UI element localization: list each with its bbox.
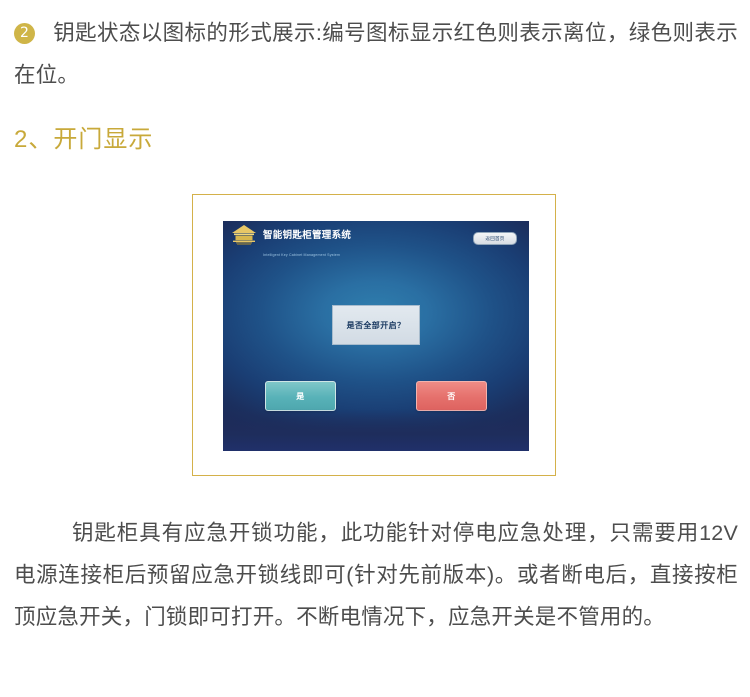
yes-button[interactable]: 是 bbox=[265, 381, 336, 411]
body-paragraph: 钥匙柜具有应急开锁功能，此功能针对停电应急处理，只需要用12V电源连接柜后预留应… bbox=[14, 512, 738, 638]
home-button[interactable]: 返回首页 bbox=[473, 232, 517, 245]
intro-paragraph-block: 2钥匙状态以图标的形式展示:编号图标显示红色则表示离位，绿色则表示在位。 bbox=[14, 12, 738, 96]
body-paragraph-block: 钥匙柜具有应急开锁功能，此功能针对停电应急处理，只需要用12V电源连接柜后预留应… bbox=[14, 512, 738, 638]
brand-title: 智能钥匙柜管理系统 Intelligent Key Cabinet Manage… bbox=[263, 225, 383, 261]
intro-paragraph-text: 钥匙状态以图标的形式展示:编号图标显示红色则表示离位，绿色则表示在位。 bbox=[14, 21, 738, 87]
section-heading: 2、开门显示 bbox=[14, 120, 153, 160]
app-header: 智能钥匙柜管理系统 Intelligent Key Cabinet Manage… bbox=[223, 221, 529, 251]
app-screenshot-panel: 智能钥匙柜管理系统 Intelligent Key Cabinet Manage… bbox=[223, 221, 529, 451]
no-button[interactable]: 否 bbox=[416, 381, 487, 411]
confirm-dialog: 是否全部开启？ bbox=[332, 305, 420, 345]
brand-title-en: Intelligent Key Cabinet Management Syste… bbox=[263, 253, 340, 257]
confirm-dialog-text: 是否全部开启？ bbox=[347, 320, 406, 331]
list-number-badge: 2 bbox=[14, 23, 35, 44]
figure-frame: 智能钥匙柜管理系统 Intelligent Key Cabinet Manage… bbox=[192, 194, 556, 476]
intro-paragraph: 2钥匙状态以图标的形式展示:编号图标显示红色则表示离位，绿色则表示在位。 bbox=[14, 12, 738, 96]
brand-title-cn: 智能钥匙柜管理系统 bbox=[263, 230, 351, 241]
pagoda-logo-icon bbox=[229, 224, 259, 246]
